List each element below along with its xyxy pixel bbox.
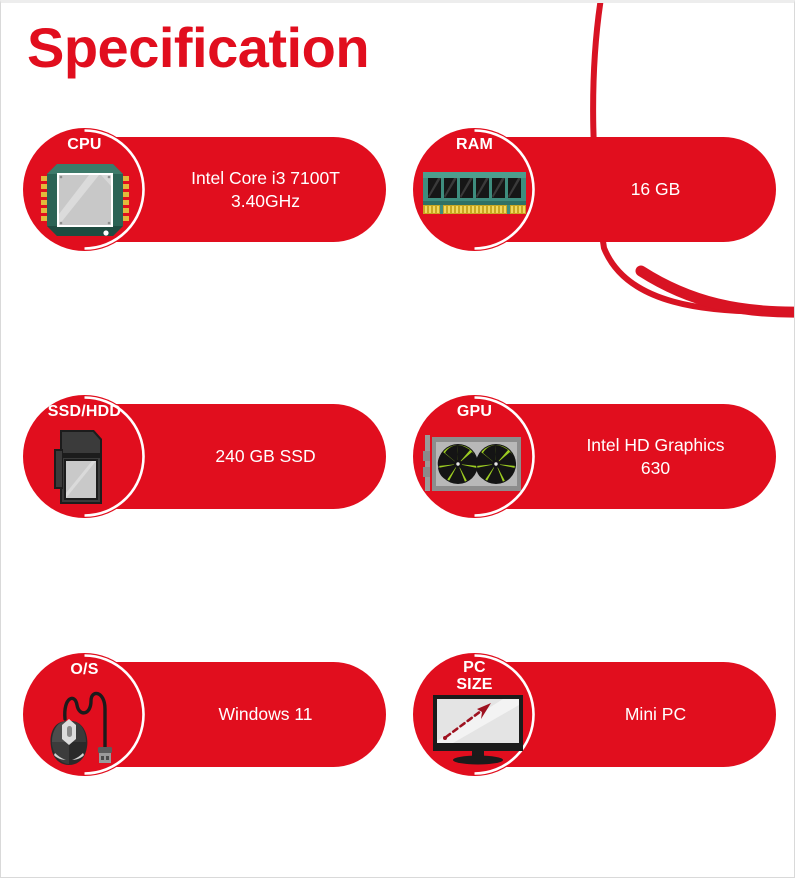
- card-label: O/S: [23, 661, 146, 678]
- card-value: Windows 11: [153, 662, 378, 767]
- cpu-chip-icon: [39, 156, 131, 248]
- ram-module-icon: [422, 170, 527, 216]
- graphics-card-icon: [423, 433, 523, 495]
- card-label: GPU: [413, 403, 536, 420]
- storage-card-icon: [50, 427, 108, 507]
- spec-card-pc-size[interactable]: PCSIZE Mini PC: [413, 653, 776, 776]
- card-value-line1: 240 GB SSD: [215, 445, 315, 468]
- card-label-line2: SIZE: [456, 676, 492, 693]
- card-value: Intel HD Graphics630: [543, 404, 768, 509]
- card-label: CPU: [23, 136, 146, 153]
- card-value-line1: Intel Core i3 7100T: [191, 168, 340, 188]
- card-label: PCSIZE: [413, 659, 536, 693]
- card-value-line1: 16 GB: [631, 178, 681, 201]
- spec-card-cpu[interactable]: CPU Intel Core i3 7100T3.40GHz: [23, 128, 386, 251]
- card-value-line1: Mini PC: [625, 703, 686, 726]
- spec-card-os[interactable]: O/S Windows 11: [23, 653, 386, 776]
- card-value-line2: 630: [641, 458, 670, 478]
- computer-mouse-icon: [43, 675, 131, 767]
- card-label: RAM: [413, 136, 536, 153]
- card-label: SSD/HDD: [23, 403, 146, 420]
- card-label-line1: PC: [463, 659, 486, 676]
- card-value: 16 GB: [543, 137, 768, 242]
- spec-card-gpu[interactable]: GPU Intel HD Graphics630: [413, 395, 776, 518]
- spec-card-ram[interactable]: RAM 16 GB: [413, 128, 776, 251]
- card-value-line2: 3.40GHz: [231, 191, 300, 211]
- spec-card-grid: CPU Intel Core i3 7100T3.40GHz: [1, 3, 795, 878]
- card-value: 240 GB SSD: [153, 404, 378, 509]
- card-value-line1: Windows 11: [218, 703, 312, 726]
- card-value-line1: Intel HD Graphics: [586, 435, 724, 455]
- specification-page: Specification: [0, 0, 795, 878]
- card-value: Mini PC: [543, 662, 768, 767]
- card-value: Intel Core i3 7100T3.40GHz: [153, 137, 378, 242]
- spec-card-storage[interactable]: SSD/HDD 240 GB SSD: [23, 395, 386, 518]
